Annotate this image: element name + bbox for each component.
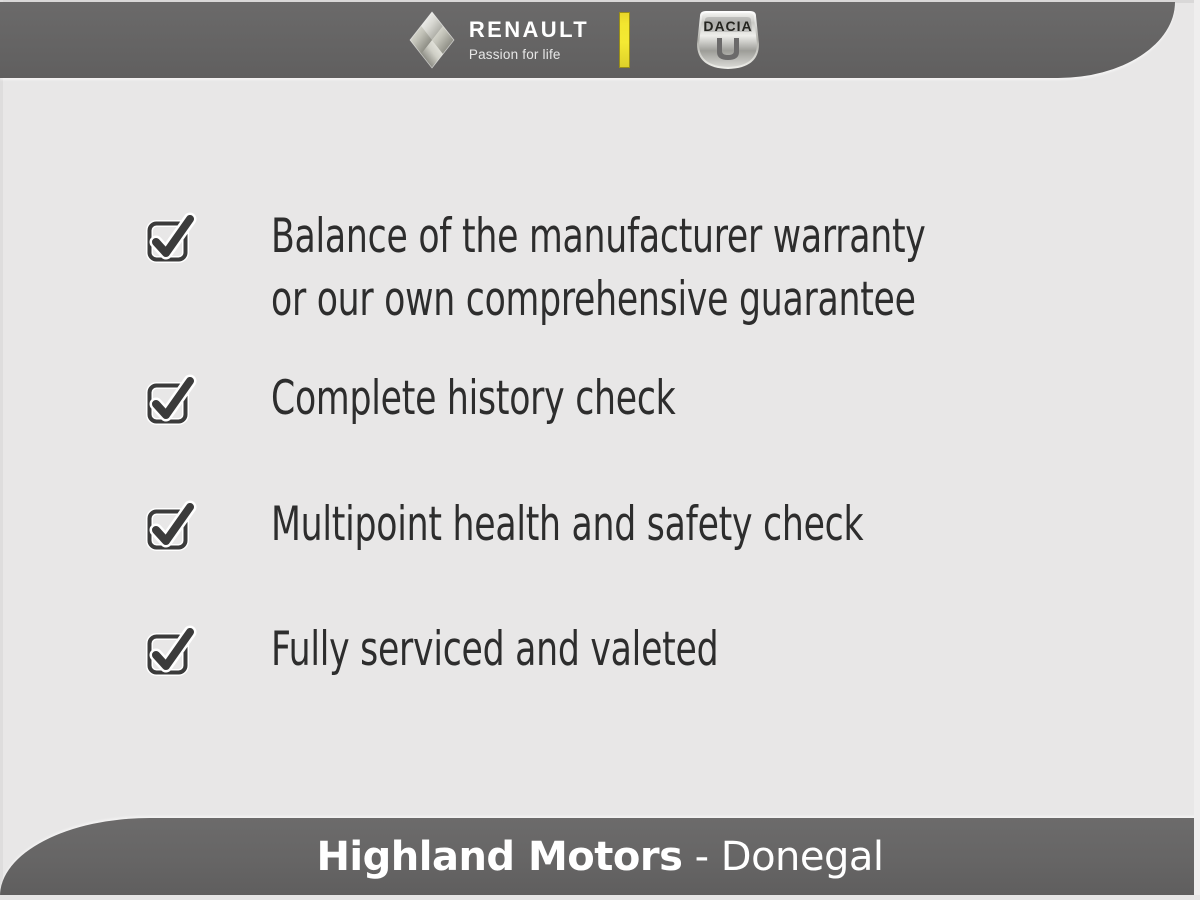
- dealer-banner: Highland Motors - Donegal: [316, 837, 883, 877]
- renault-brand-group: RENAULT Passion for life: [409, 11, 589, 69]
- checked-checkbox-icon: [143, 374, 199, 430]
- renault-diamond-icon: [409, 11, 455, 69]
- feature-item-4: Fully serviced and valeted: [143, 619, 817, 682]
- checked-checkbox-icon: [143, 625, 199, 681]
- footer-bar: Highland Motors - Donegal: [0, 818, 1200, 896]
- header-bar: RENAULT Passion for life: [0, 2, 1175, 78]
- feature-item-3: Multipoint health and safety check: [143, 494, 993, 557]
- promo-banner: RENAULT Passion for life: [0, 0, 1200, 900]
- renault-tagline: Passion for life: [469, 48, 589, 62]
- feature-list: Balance of the manufacturer warranty or …: [0, 78, 1200, 818]
- renault-name: RENAULT: [469, 19, 589, 41]
- feature-label: Balance of the manufacturer warranty or …: [271, 206, 926, 331]
- dealer-location: - Donegal: [682, 834, 883, 880]
- feature-item-2: Complete history check: [143, 368, 764, 431]
- feature-item-1: Balance of the manufacturer warranty or …: [143, 206, 1069, 331]
- page-edge-bottom: [0, 895, 1200, 900]
- svg-text:DACIA: DACIA: [703, 18, 752, 34]
- checked-checkbox-icon: [143, 212, 199, 268]
- checked-checkbox-icon: [143, 500, 199, 556]
- header-brand-strip: RENAULT Passion for life: [0, 2, 1175, 78]
- page-edge-right: [1194, 0, 1200, 900]
- renault-wordmark: RENAULT Passion for life: [469, 19, 589, 62]
- feature-label: Complete history check: [271, 368, 675, 431]
- dacia-shield-icon: DACIA: [690, 8, 766, 72]
- dealer-name: Highland Motors: [316, 834, 682, 880]
- yellow-divider-icon: [619, 12, 630, 68]
- feature-label: Fully serviced and valeted: [271, 619, 718, 682]
- feature-label: Multipoint health and safety check: [271, 494, 863, 557]
